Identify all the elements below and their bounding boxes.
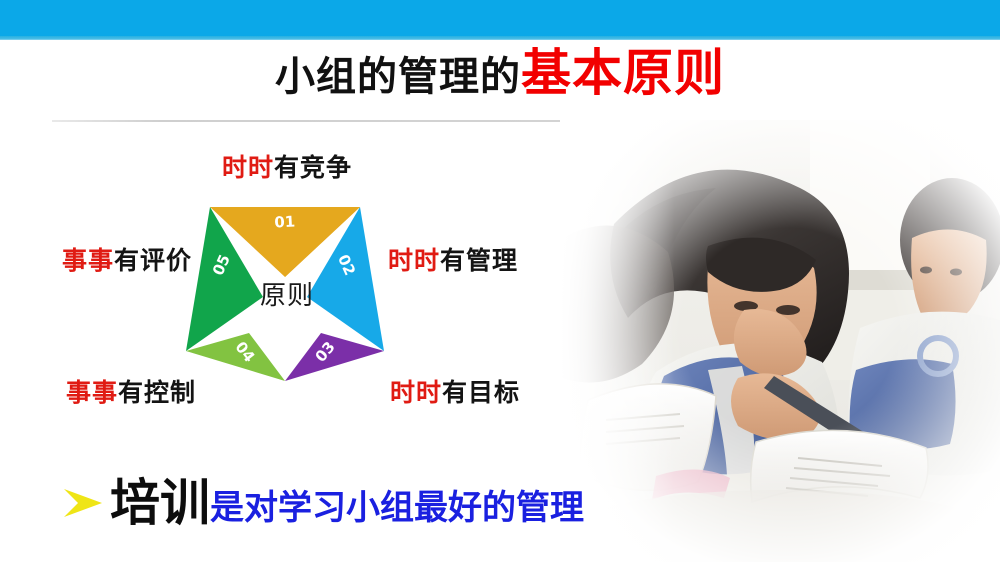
page-title: 小组的管理的基本原则 <box>0 48 1000 98</box>
bottom-emphasis-text: 培训 <box>110 478 210 528</box>
arrow-bullet-icon <box>62 486 104 520</box>
diagram-label-right: 时时有管理 <box>388 241 518 277</box>
top-band-shadow <box>0 36 1000 40</box>
pentagram-diagram: 01 02 03 04 05 <box>170 185 400 385</box>
bottom-rest-text: 是对学习小组最好的管理 <box>210 491 584 525</box>
label-bottom-left-red: 事事 <box>66 378 118 407</box>
segment-number-01: 01 <box>274 212 296 231</box>
diagram-label-left: 事事有评价 <box>62 241 192 277</box>
label-bottom-left-black: 有控制 <box>118 378 196 407</box>
diagram-label-top: 时时有竞争 <box>222 148 352 184</box>
label-top-black: 有竞争 <box>274 153 352 182</box>
slide-canvas: 小组的管理的基本原则 <box>0 0 1000 562</box>
photo-image <box>560 120 1000 562</box>
title-red-part: 基本原则 <box>521 44 725 102</box>
label-right-red: 时时 <box>388 246 440 275</box>
label-top-red: 时时 <box>222 153 274 182</box>
diagram-label-bottom-left: 事事有控制 <box>66 373 196 409</box>
diagram-label-bottom-right: 时时有目标 <box>390 373 520 409</box>
label-left-black: 有评价 <box>114 246 192 275</box>
students-studying-photo <box>560 120 1000 562</box>
bottom-statement: 培训是对学习小组最好的管理 <box>62 470 584 536</box>
label-left-red: 事事 <box>62 246 114 275</box>
label-bottom-right-black: 有目标 <box>442 378 520 407</box>
label-bottom-right-red: 时时 <box>390 378 442 407</box>
title-black-part: 小组的管理的 <box>275 54 521 100</box>
label-right-black: 有管理 <box>440 246 518 275</box>
top-blue-band <box>0 0 1000 39</box>
